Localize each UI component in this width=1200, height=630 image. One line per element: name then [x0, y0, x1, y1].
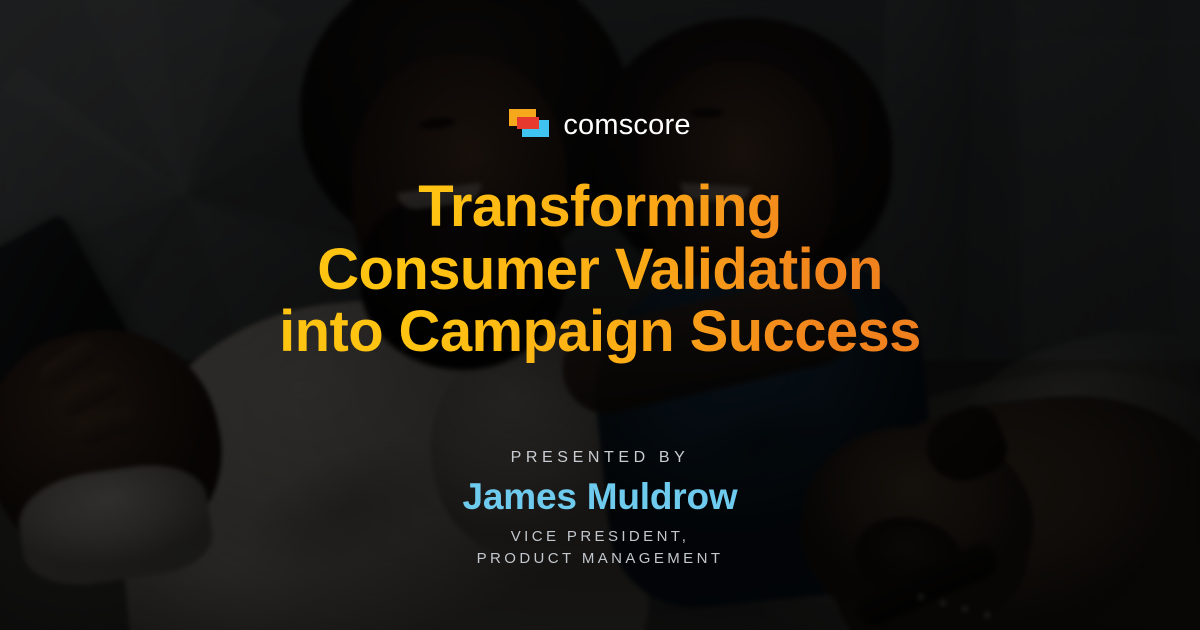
- headline-line-3: into Campaign Success: [279, 301, 921, 364]
- presenter-title-line-2: PRODUCT MANAGEMENT: [477, 548, 724, 570]
- headline-line-1: Transforming: [279, 176, 921, 239]
- comscore-logo: comscore: [509, 108, 690, 142]
- presenter-name: James Muldrow: [463, 477, 738, 518]
- comscore-logo-mark: [509, 109, 549, 141]
- headline-line-2: Consumer Validation: [279, 239, 921, 302]
- card-content: comscore Transforming Consumer Validatio…: [0, 0, 1200, 630]
- page-title: Transforming Consumer Validation into Ca…: [259, 176, 941, 364]
- webinar-promo-card: comscore Transforming Consumer Validatio…: [0, 0, 1200, 630]
- logo-rect-red: [517, 117, 539, 129]
- comscore-wordmark: comscore: [563, 111, 690, 140]
- presenter-title: VICE PRESIDENT, PRODUCT MANAGEMENT: [477, 526, 724, 570]
- presented-by-label: PRESENTED BY: [511, 449, 690, 467]
- presenter-title-line-1: VICE PRESIDENT,: [477, 526, 724, 548]
